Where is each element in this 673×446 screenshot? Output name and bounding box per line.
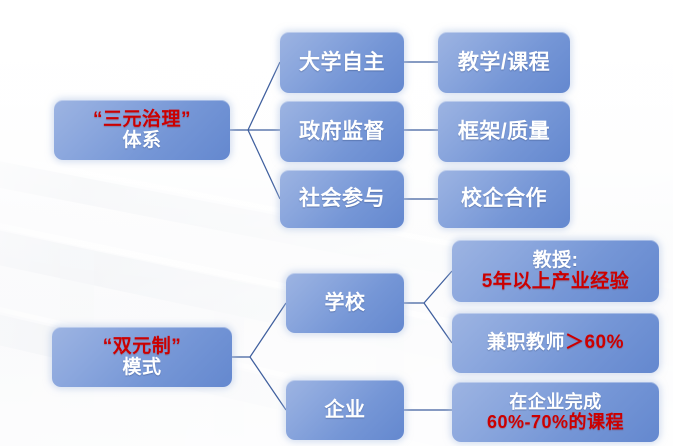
node-school-enterprise-cooperation[interactable]: 校企合作 (438, 170, 570, 228)
node-root-dual-system[interactable]: “双元制” 模式 (52, 327, 232, 387)
node-root-dual-system-line2: 模式 (122, 357, 161, 378)
node-university-autonomy-label: 大学自主 (299, 51, 385, 75)
node-enterprise[interactable]: 企业 (286, 380, 404, 440)
node-root-governance[interactable]: “三元治理” 体系 (54, 100, 230, 160)
node-detail-professor-experience-text: 教授: 5年以上产业经验 (482, 250, 630, 293)
node-social-participation-label: 社会参与 (299, 187, 385, 211)
node-detail-parttime-teachers-text: 兼职教师＞60% (487, 332, 624, 353)
node-enterprise-label: 企业 (325, 399, 366, 421)
node-government-supervision[interactable]: 政府监督 (280, 101, 404, 162)
node-root-governance-line1: “三元治理” (93, 109, 191, 130)
node-detail-professor-experience[interactable]: 教授: 5年以上产业经验 (452, 240, 659, 302)
connector-root2-to-qiye (250, 357, 286, 410)
node-school[interactable]: 学校 (286, 273, 404, 333)
connector-xuexiao-to-detail2 (424, 303, 452, 343)
connector-root1-to-shehui (248, 130, 280, 199)
node-detail-professor-experience-line2: 5年以上产业经验 (482, 271, 630, 292)
node-teaching-curriculum[interactable]: 教学/课程 (438, 32, 570, 93)
node-social-participation[interactable]: 社会参与 (280, 170, 404, 228)
connector-root2-to-xuexiao (232, 303, 286, 357)
node-framework-quality[interactable]: 框架/质量 (438, 101, 570, 162)
node-root-dual-system-line1: “双元制” (103, 336, 182, 357)
node-detail-parttime-teachers[interactable]: 兼职教师＞60% (452, 313, 659, 373)
node-teaching-curriculum-label: 教学/课程 (458, 51, 550, 75)
node-school-label: 学校 (325, 292, 366, 314)
node-detail-enterprise-courses-line2: 60%-70%的课程 (487, 412, 624, 432)
node-government-supervision-label: 政府监督 (299, 120, 385, 144)
node-university-autonomy[interactable]: 大学自主 (280, 32, 404, 93)
connector-xuexiao-to-detail1 (404, 271, 452, 303)
node-detail-enterprise-courses-text: 在企业完成 60%-70%的课程 (487, 392, 624, 432)
node-root-governance-line2: 体系 (122, 130, 161, 151)
node-root-dual-system-text: “双元制” 模式 (103, 336, 182, 379)
node-detail-professor-experience-line1: 教授: (533, 250, 579, 271)
node-root-governance-text: “三元治理” 体系 (93, 109, 191, 152)
node-detail-parttime-teachers-label: 兼职教师 (487, 332, 565, 353)
node-framework-quality-label: 框架/质量 (458, 120, 550, 144)
connector-root1-to-daxue (230, 62, 280, 130)
node-detail-parttime-teachers-value: ＞60% (565, 332, 624, 353)
node-detail-enterprise-courses-line1: 在企业完成 (509, 392, 602, 412)
diagram-canvas: “三元治理” 体系 大学自主 政府监督 社会参与 教学/课程 框架/质量 校企合… (0, 0, 673, 446)
node-detail-enterprise-courses[interactable]: 在企业完成 60%-70%的课程 (452, 382, 659, 442)
node-school-enterprise-cooperation-label: 校企合作 (461, 187, 547, 211)
